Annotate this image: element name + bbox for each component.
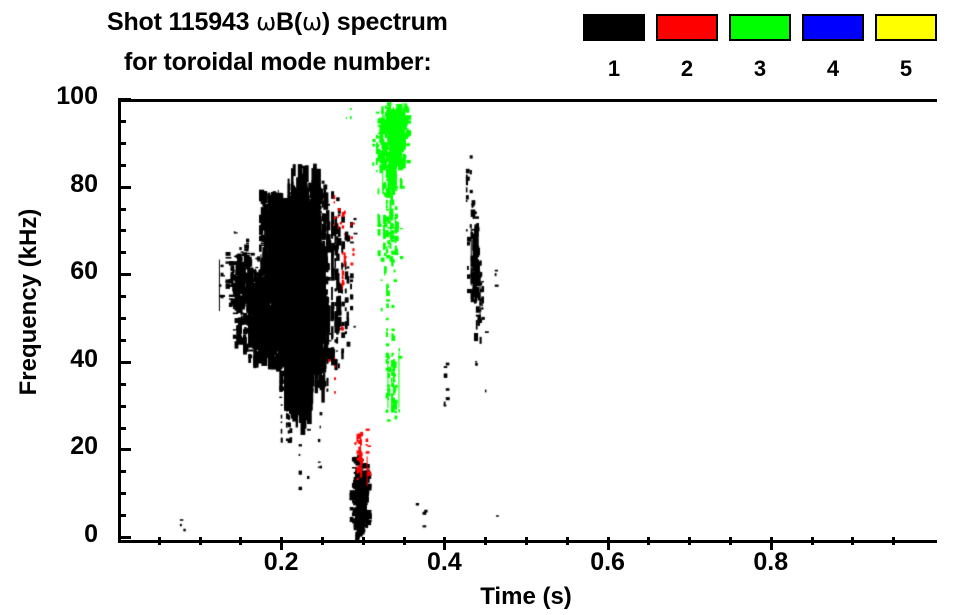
x-tick-label-0.8: 0.8 (726, 548, 816, 577)
y-tick-major-0 (118, 536, 131, 539)
legend-swatch-4 (802, 14, 864, 41)
x-tick-minor-0.1 (199, 537, 202, 545)
plot-frame (118, 99, 937, 543)
y-tick-minor-85 (118, 164, 126, 167)
spectrogram-canvas (121, 102, 937, 540)
legend-label-4: 4 (802, 56, 864, 82)
y-axis-title: Frequency (kHz) (15, 142, 43, 462)
legend-label-5: 5 (875, 56, 937, 82)
legend-swatch-2 (656, 14, 718, 41)
y-tick-minor-35 (118, 383, 126, 386)
y-tick-major-20 (118, 448, 131, 451)
x-tick-minor-0.65 (647, 537, 650, 545)
x-tick-minor-0.95 (892, 537, 895, 545)
y-tick-minor-70 (118, 229, 126, 232)
y-tick-minor-5 (118, 514, 126, 517)
x-tick-minor-0.75 (729, 537, 732, 545)
y-tick-minor-55 (118, 295, 126, 298)
y-tick-minor-15 (118, 470, 126, 473)
legend: 12345 (0, 0, 963, 95)
y-tick-major-100 (118, 98, 131, 101)
x-tick-minor-0.25 (321, 537, 324, 545)
y-tick-minor-45 (118, 339, 126, 342)
y-tick-major-60 (118, 273, 131, 276)
x-tick-minor-0.55 (566, 537, 569, 545)
x-tick-minor-0.05 (158, 537, 161, 545)
legend-label-2: 2 (656, 56, 718, 82)
plot-page: Shot 115943 ωB(ω) spectrum for toroidal … (0, 0, 963, 615)
x-tick-minor-0.45 (484, 537, 487, 545)
x-tick-label-0.6: 0.6 (563, 548, 653, 577)
legend-label-3: 3 (729, 56, 791, 82)
y-tick-minor-25 (118, 427, 126, 430)
x-tick-minor-0.9 (851, 537, 854, 545)
x-tick-minor-0.5 (525, 537, 528, 545)
y-tick-major-80 (118, 186, 131, 189)
x-tick-label-0.4: 0.4 (399, 548, 489, 577)
legend-swatch-1 (583, 14, 645, 41)
x-tick-minor-0.7 (688, 537, 691, 545)
y-tick-minor-65 (118, 251, 126, 254)
y-tick-minor-95 (118, 120, 126, 123)
legend-swatch-3 (729, 14, 791, 41)
x-tick-minor-0.35 (403, 537, 406, 545)
legend-swatch-5 (875, 14, 937, 41)
y-tick-major-40 (118, 361, 131, 364)
y-tick-minor-50 (118, 317, 126, 320)
y-tick-minor-90 (118, 142, 126, 145)
y-tick-minor-10 (118, 492, 126, 495)
x-tick-minor-0.85 (811, 537, 814, 545)
legend-label-1: 1 (583, 56, 645, 82)
y-tick-label-0: 0 (0, 520, 98, 549)
y-tick-label-100: 100 (0, 82, 98, 111)
x-tick-minor-0.3 (362, 537, 365, 545)
x-axis-title: Time (s) (118, 583, 934, 611)
x-tick-minor-0.15 (239, 537, 242, 545)
y-tick-minor-75 (118, 208, 126, 211)
y-tick-minor-30 (118, 405, 126, 408)
x-tick-label-0.2: 0.2 (236, 548, 326, 577)
